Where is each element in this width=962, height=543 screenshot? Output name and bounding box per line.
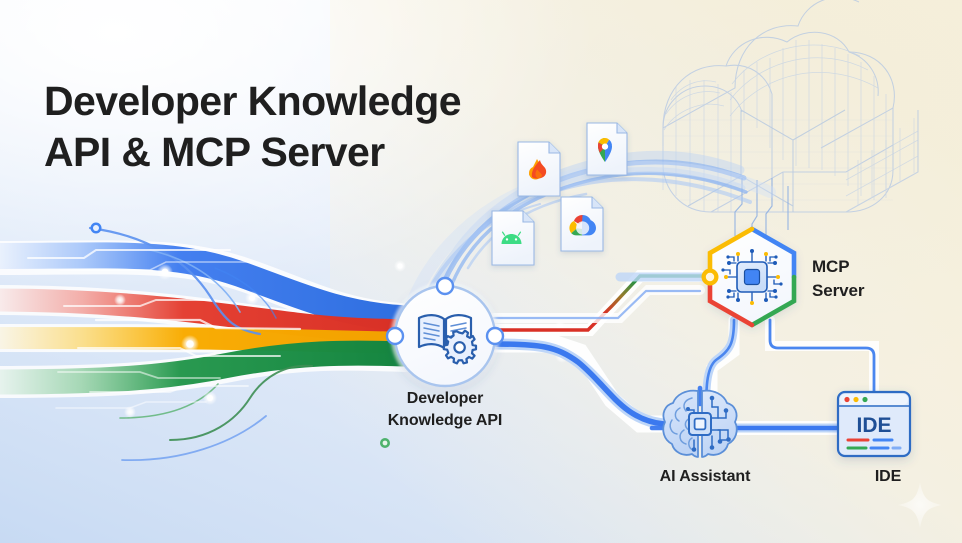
sparkle-star [898, 482, 942, 528]
label-ai-line1: AI Assistant [632, 466, 778, 488]
link-mcp-ide [770, 320, 874, 392]
label-mcp-line2: Server [812, 279, 942, 303]
page-title-line2: API & MCP Server [44, 127, 461, 178]
label-dka-line2: Knowledge API [345, 410, 545, 432]
label-ai-assistant: AI Assistant [632, 466, 778, 488]
label-developer-knowledge-api: Developer Knowledge API [345, 388, 545, 432]
firebase-doc-card[interactable] [518, 142, 560, 196]
chip-circuit-icon [721, 249, 782, 305]
node-ide[interactable]: IDE [838, 392, 910, 456]
node-developer-knowledge-api[interactable] [387, 278, 503, 390]
page-title-line1: Developer Knowledge [44, 76, 461, 127]
label-mcp-line1: MCP [812, 255, 942, 279]
label-ide: IDE [838, 466, 938, 488]
google-cloud-doc-card[interactable] [561, 197, 603, 251]
ide-traffic-lights [844, 397, 867, 402]
port-top [437, 278, 453, 294]
page-title: Developer Knowledge API & MCP Server [44, 76, 461, 178]
label-ide-line1: IDE [838, 466, 938, 488]
port-left [387, 328, 403, 344]
label-dka-line1: Developer [345, 388, 545, 410]
port-right [487, 328, 503, 344]
ide-screen-text: IDE [856, 414, 891, 437]
node-mcp-server[interactable] [702, 229, 795, 325]
android-doc-card[interactable] [492, 211, 534, 265]
illustration-canvas: IDE Developer Knowledge API & MCP Server… [0, 0, 962, 543]
label-mcp-server: MCP Server [812, 255, 942, 303]
google-maps-doc-card[interactable] [587, 123, 627, 175]
